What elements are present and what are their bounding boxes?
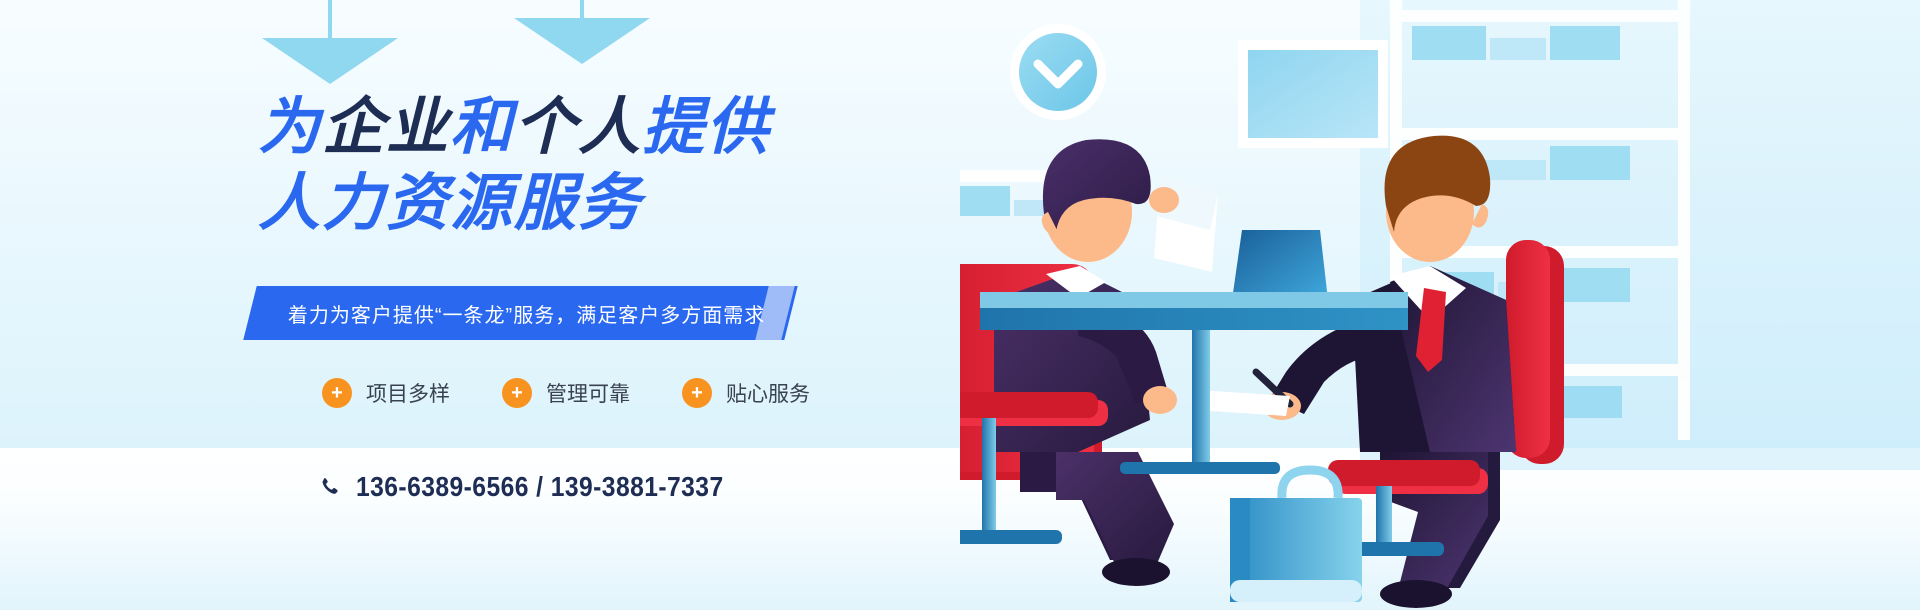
headline-line-2: 人力资源服务 <box>258 172 1018 236</box>
blue-briefcase <box>1230 470 1362 602</box>
plus-icon: + <box>682 378 712 408</box>
feature-item[interactable]: + 项目多样 <box>322 378 450 408</box>
feature-item[interactable]: + 贴心服务 <box>682 378 810 408</box>
subtitle-text: 着力为客户提供“一条龙”服务，满足客户多方面需求 <box>288 299 765 328</box>
plus-icon: + <box>322 378 352 408</box>
lamp-cap <box>571 20 593 42</box>
contact-row[interactable]: 136-6389-6566 / 139-3881-7337 <box>318 471 774 503</box>
headline-seg-5: 提供 <box>642 93 770 162</box>
shoe <box>1102 558 1170 586</box>
feature-label: 管理可靠 <box>546 378 630 408</box>
feature-label: 贴心服务 <box>726 378 810 408</box>
bag-handle <box>1282 470 1338 498</box>
phone-number: 136-6389-6566 / 139-3881-7337 <box>356 471 724 503</box>
lamp-cord <box>328 0 332 42</box>
feature-label: 项目多样 <box>366 378 450 408</box>
clock-check-icon <box>1010 24 1106 120</box>
feature-list: + 项目多样 + 管理可靠 + 贴心服务 <box>322 378 810 408</box>
shoe <box>1380 580 1452 608</box>
plus-icon: + <box>502 378 532 408</box>
headline-seg-4: 个人 <box>514 93 642 162</box>
red-office-chair <box>1506 240 1564 464</box>
hand <box>1149 187 1179 213</box>
phone-icon <box>318 476 340 498</box>
office-consultation-illustration <box>960 0 1920 610</box>
headline: 为企业和个人提供 人力资源服务 <box>258 96 1018 236</box>
feature-item[interactable]: + 管理可靠 <box>502 378 630 408</box>
lamp-cap <box>319 40 341 62</box>
headline-seg-3: 和 <box>450 93 514 162</box>
wall-picture-frame <box>1238 40 1388 148</box>
subtitle-banner: 着力为客户提供“一条龙”服务，满足客户多方面需求 <box>243 286 798 340</box>
headline-seg-1: 为 <box>258 93 322 162</box>
hand <box>1143 386 1177 414</box>
headline-line-1: 为企业和个人提供 <box>258 96 1018 160</box>
hero-banner: 为企业和个人提供 人力资源服务 着力为客户提供“一条龙”服务，满足客户多方面需求… <box>0 0 1920 610</box>
headline-seg-2: 企业 <box>322 93 450 162</box>
